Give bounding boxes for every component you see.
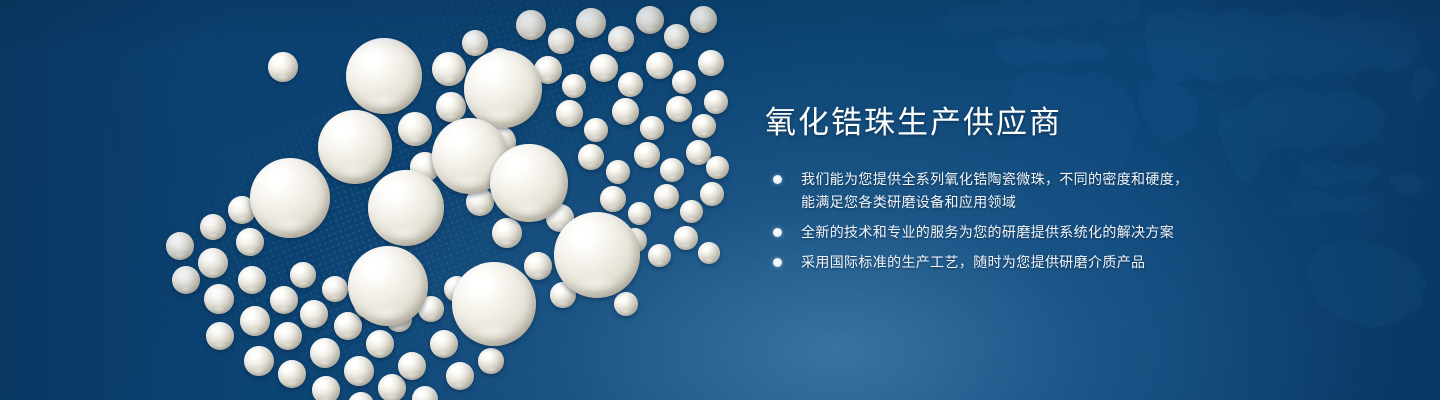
bullet-text-line1: 我们能为您提供全系列氧化锆陶瓷微珠，不同的密度和硬度， [801, 168, 1365, 191]
banner-copy: 氧化锆珠生产供应商 我们能为您提供全系列氧化锆陶瓷微珠，不同的密度和硬度， 能满… [765, 104, 1365, 274]
feature-bullet-item: 全新的技术和专业的服务为您的研磨提供系统化的解决方案 [771, 221, 1365, 244]
hero-banner: 氧化锆珠生产供应商 我们能为您提供全系列氧化锆陶瓷微珠，不同的密度和硬度， 能满… [0, 0, 1440, 400]
bullet-text-line1: 采用国际标准的生产工艺，随时为您提供研磨介质产品 [801, 251, 1365, 274]
bullet-dot-icon [773, 228, 782, 237]
bullet-dot-icon [773, 175, 782, 184]
bullet-dot-icon [773, 258, 782, 267]
banner-headline: 氧化锆珠生产供应商 [765, 104, 1365, 142]
feature-bullet-item: 我们能为您提供全系列氧化锆陶瓷微珠，不同的密度和硬度， 能满足您各类研磨设备和应… [771, 168, 1365, 214]
bullet-text-line1: 全新的技术和专业的服务为您的研磨提供系统化的解决方案 [801, 221, 1365, 244]
bullet-text-line2: 能满足您各类研磨设备和应用领域 [801, 191, 1365, 214]
feature-bullet-item: 采用国际标准的生产工艺，随时为您提供研磨介质产品 [771, 251, 1365, 274]
feature-bullet-list: 我们能为您提供全系列氧化锆陶瓷微珠，不同的密度和硬度， 能满足您各类研磨设备和应… [771, 168, 1365, 274]
